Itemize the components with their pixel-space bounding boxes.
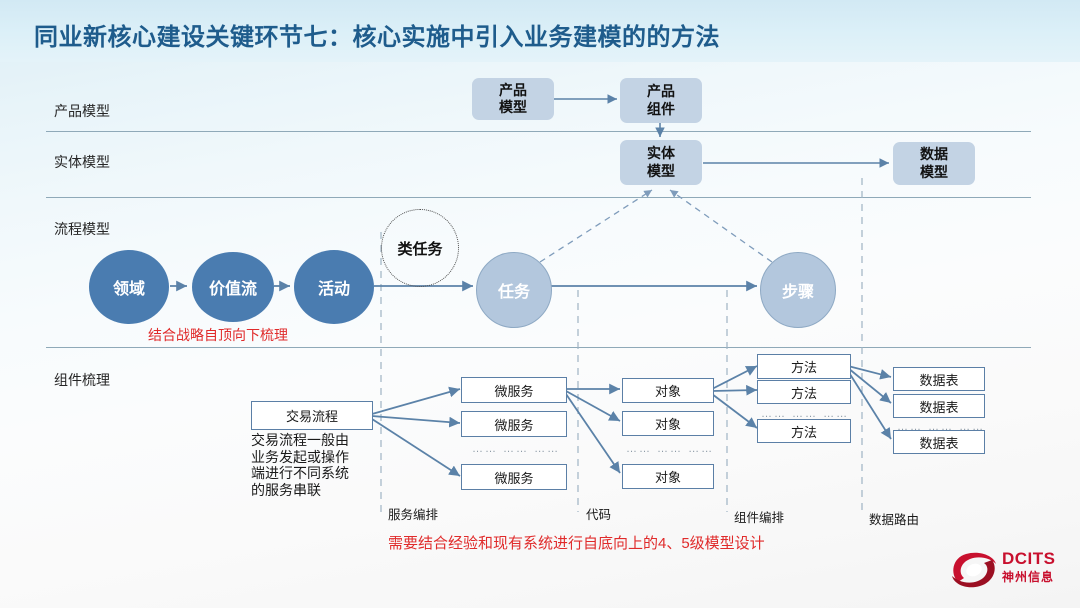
row-label-product-model: 产品模型: [54, 101, 110, 121]
box-data-table-3[interactable]: 数据表: [893, 430, 985, 454]
box-product-model-line2: 模型: [499, 99, 527, 116]
column-caption-service-orchestration: 服务编排: [388, 504, 438, 523]
object-ellipsis: …… …… ……: [626, 443, 714, 455]
box-entity-model-line2: 模型: [647, 163, 675, 180]
circle-task[interactable]: 任务: [476, 252, 552, 328]
components-red-note: 需要结合经验和现有系统进行自底向上的4、5级模型设计: [388, 532, 765, 553]
box-object-3[interactable]: 对象: [622, 464, 714, 489]
row-label-process-model: 流程模型: [54, 219, 110, 239]
circle-domain[interactable]: 领域: [89, 250, 169, 324]
transaction-flow-note-line-3: 端进行不同系统: [251, 465, 381, 482]
transaction-flow-note-line-1: 交易流程一般由: [251, 432, 381, 449]
row-label-entity-model: 实体模型: [54, 152, 110, 172]
box-data-model-line1: 数据: [920, 146, 948, 163]
box-method-3[interactable]: 方法: [757, 419, 851, 443]
box-product-model[interactable]: 产品 模型: [472, 78, 554, 120]
column-caption-component-orchestration: 组件编排: [734, 507, 784, 526]
page-title: 同业新核心建设关键环节七：核心实施中引入业务建模的的方法: [34, 17, 720, 52]
box-method-2[interactable]: 方法: [757, 380, 851, 404]
box-data-table-2[interactable]: 数据表: [893, 394, 985, 418]
box-object-2[interactable]: 对象: [622, 411, 714, 436]
process-red-note: 结合战略自顶向下梳理: [148, 325, 288, 345]
transaction-flow-note-line-4: 的服务串联: [251, 482, 381, 499]
box-microservice-1[interactable]: 微服务: [461, 377, 567, 403]
box-product-component-line1: 产品: [647, 83, 675, 100]
box-microservice-2[interactable]: 微服务: [461, 411, 567, 437]
dcits-logo-sub: 神州信息: [1002, 571, 1056, 583]
box-product-component[interactable]: 产品 组件: [620, 78, 702, 123]
box-data-model-line2: 模型: [920, 164, 948, 181]
dcits-logo-text: DCITS 神州信息: [1002, 550, 1056, 583]
divider-3: [46, 347, 1031, 348]
box-data-model[interactable]: 数据 模型: [893, 142, 975, 185]
box-product-model-line1: 产品: [499, 82, 527, 99]
box-entity-model[interactable]: 实体 模型: [620, 140, 702, 185]
microservice-ellipsis: …… …… ……: [472, 443, 560, 455]
box-product-component-line2: 组件: [647, 101, 675, 118]
circle-activity[interactable]: 活动: [294, 250, 374, 324]
box-entity-model-line1: 实体: [647, 145, 675, 162]
column-caption-code: 代码: [586, 504, 611, 523]
slide-canvas: 同业新核心建设关键环节七：核心实施中引入业务建模的的方法 产品模型 实体模型 流…: [0, 0, 1080, 608]
transaction-flow-note: 交易流程一般由 业务发起或操作 端进行不同系统 的服务串联: [251, 432, 381, 498]
dcits-swirl-icon: [948, 546, 1000, 594]
divider-1: [46, 131, 1031, 132]
divider-2: [46, 197, 1031, 198]
circle-class-task[interactable]: 类任务: [381, 209, 459, 287]
box-object-1[interactable]: 对象: [622, 378, 714, 403]
box-method-1[interactable]: 方法: [757, 354, 851, 379]
column-caption-data-routing: 数据路由: [869, 509, 919, 528]
dcits-logo: DCITS 神州信息: [948, 546, 1066, 598]
box-microservice-3[interactable]: 微服务: [461, 464, 567, 490]
transaction-flow-note-line-2: 业务发起或操作: [251, 449, 381, 466]
circle-step[interactable]: 步骤: [760, 252, 836, 328]
dcits-logo-name: DCITS: [1002, 550, 1056, 567]
box-data-table-1[interactable]: 数据表: [893, 367, 985, 391]
circle-value-stream[interactable]: 价值流: [192, 252, 274, 322]
row-label-component-sorting: 组件梳理: [54, 370, 110, 390]
box-transaction-flow[interactable]: 交易流程: [251, 401, 373, 430]
